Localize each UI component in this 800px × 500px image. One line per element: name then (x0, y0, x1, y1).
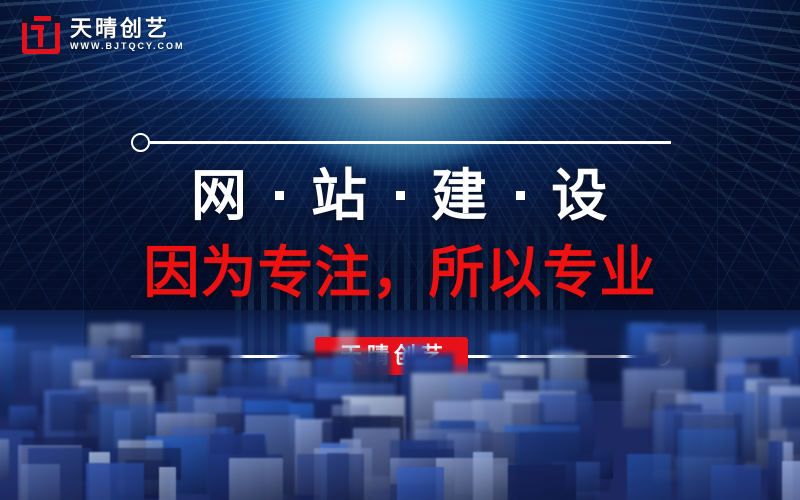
city-block (9, 406, 37, 432)
city-block (711, 465, 761, 500)
top-divider-rule (131, 132, 671, 152)
page-title: 网 站 建 设 (0, 168, 800, 224)
city-block (159, 467, 176, 500)
tianqing-monogram-icon (22, 16, 60, 54)
tagline: 因为专注，所以专业 (0, 245, 800, 301)
headline-char-3: 建 (431, 164, 489, 227)
monogram-notch-right (51, 16, 60, 23)
city-block (627, 454, 671, 500)
brand-logo[interactable]: 天晴创艺 WWW.BJTQCY.COM (22, 16, 185, 54)
logo-text-block: 天晴创艺 WWW.BJTQCY.COM (70, 17, 185, 54)
city-block (768, 441, 783, 500)
city-block (508, 465, 565, 500)
monogram-notch-left (22, 16, 34, 23)
city-block (436, 458, 508, 500)
city-block (397, 467, 444, 500)
headline-char-1: 网 (191, 164, 249, 227)
headline-separator-dot-2 (396, 191, 405, 200)
city-block (86, 463, 144, 500)
promotional-banner: 天晴创艺 WWW.BJTQCY.COM 网 站 建 设 因为专注，所以专业 天晴… (0, 0, 800, 500)
circle-outline-left (131, 133, 150, 152)
city-block (0, 439, 9, 480)
monogram-bar-vertical (38, 25, 43, 47)
city-block (229, 458, 283, 500)
headline-char-2: 站 (311, 164, 369, 227)
headline-char-4: 设 (551, 164, 609, 227)
headline-separator-dot-3 (516, 191, 525, 200)
headline-separator-dot-1 (275, 191, 284, 200)
top-rule-line (150, 141, 671, 144)
city-block (108, 359, 172, 382)
logo-website-url: WWW.BJTQCY.COM (70, 40, 185, 54)
city-block (21, 464, 60, 500)
city-block (543, 328, 564, 348)
city-block (297, 454, 364, 500)
logo-company-name: 天晴创艺 (70, 17, 185, 40)
city-block (782, 461, 800, 500)
